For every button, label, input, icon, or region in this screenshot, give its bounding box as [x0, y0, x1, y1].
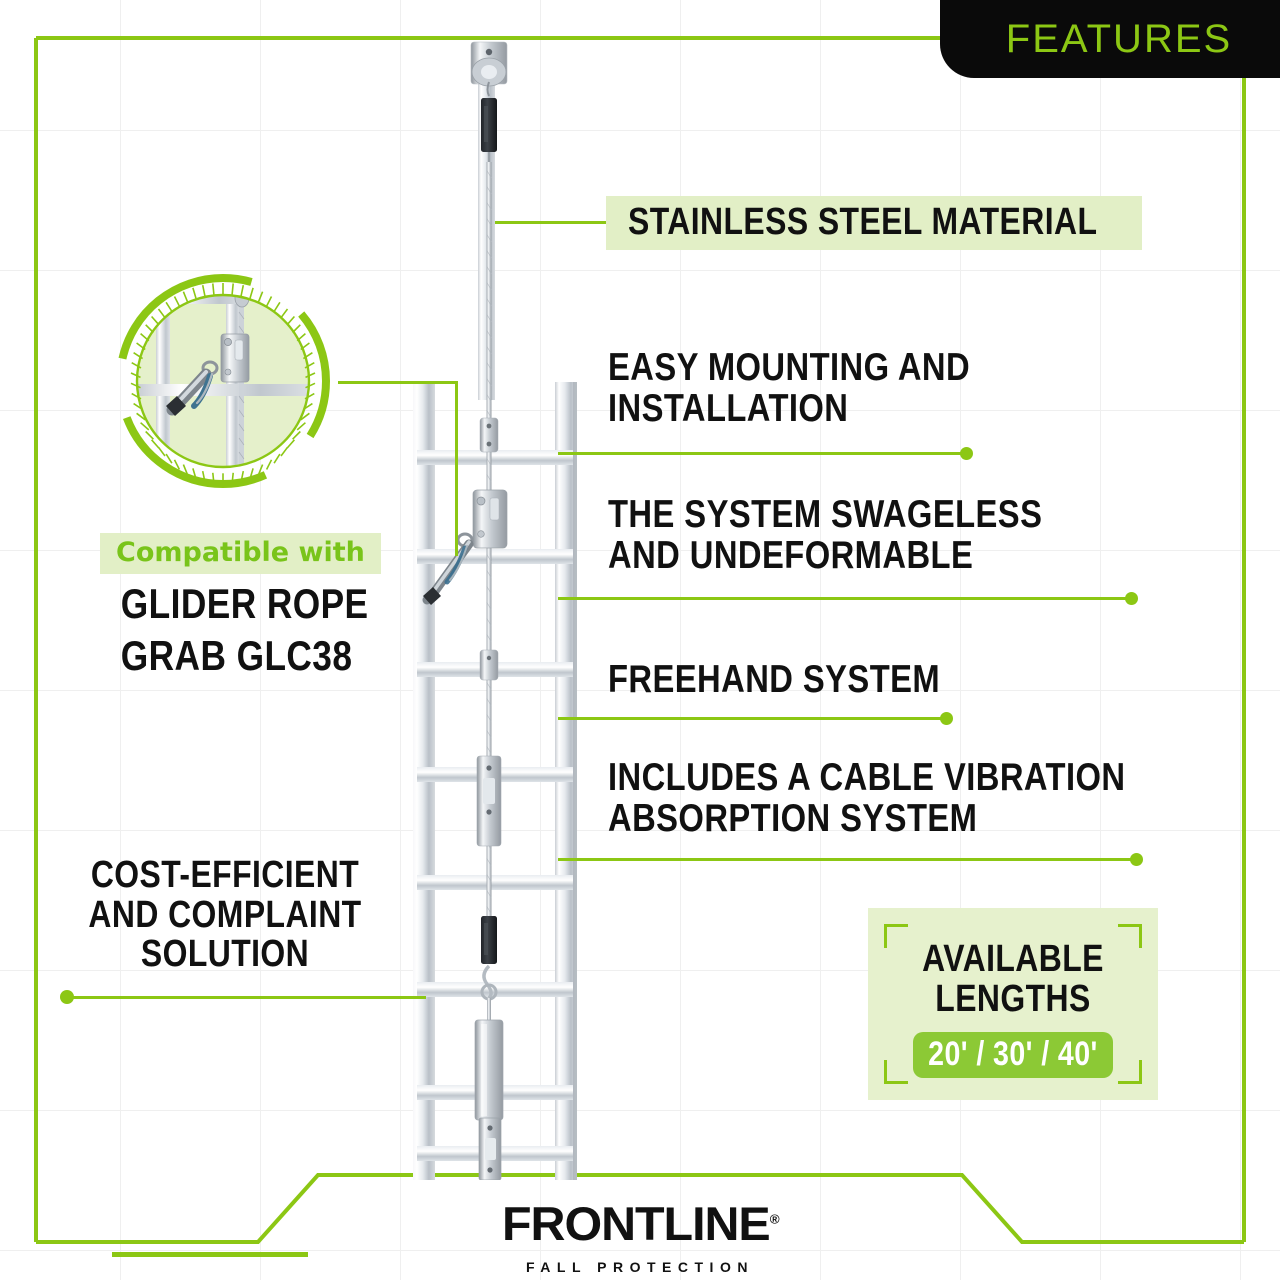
corner-bracket-bottom-right	[1118, 1060, 1142, 1084]
compatible-product-line2: GRAB GLC38	[121, 634, 339, 678]
feature-mounting-line2: INSTALLATION	[608, 389, 1045, 430]
feature-swageless-dot	[1125, 592, 1138, 605]
logo-tagline: FALL PROTECTION	[0, 1259, 1280, 1275]
lengths-values: 20' / 30' / 40'	[928, 1037, 1098, 1072]
lengths-title-line1: AVAILABLE	[891, 940, 1135, 980]
logo-wordmark-wrap: FRONTLINE®	[502, 1196, 779, 1251]
feature-vibration-underline	[558, 858, 1136, 861]
available-lengths-heading: AVAILABLE LENGTHS	[868, 908, 1158, 1019]
compatible-with-block: Compatible with GLIDER ROPE GRAB GLC38	[100, 533, 360, 677]
lengths-values-pill: 20' / 30' / 40'	[913, 1032, 1113, 1078]
ladder-safety-system-image	[395, 20, 595, 1180]
feature-swageless-line1: THE SYSTEM SWAGELESS	[608, 495, 1078, 536]
feature-mounting-dot	[960, 447, 973, 460]
features-tab: FEATURES	[940, 0, 1280, 78]
features-tab-label: FEATURES	[1006, 17, 1232, 62]
feature-freehand: FREEHAND SYSTEM	[608, 660, 1048, 701]
feature-freehand-line1: FREEHAND SYSTEM	[608, 660, 978, 701]
feature-vibration-absorption: INCLUDES A CABLE VIBRATION ABSORPTION SY…	[608, 758, 1208, 839]
feature-easy-mounting: EASY MOUNTING AND INSTALLATION	[608, 348, 1128, 429]
lengths-title-line2: LENGTHS	[891, 980, 1135, 1020]
detail-magnifier-inset	[78, 246, 368, 516]
cost-dot	[60, 990, 74, 1004]
feature-swageless-underline	[558, 597, 1131, 600]
feature-vibration-dot	[1130, 853, 1143, 866]
cost-line2: AND COMPLAINT	[86, 896, 363, 936]
feature-swageless: THE SYSTEM SWAGELESS AND UNDEFORMABLE	[608, 495, 1168, 576]
compatible-with-badge: Compatible with	[100, 533, 381, 574]
feature-stainless-steel-material: STAINLESS STEEL MATERIAL	[606, 196, 1142, 250]
feature-vibration-line1: INCLUDES A CABLE VIBRATION	[608, 758, 1112, 799]
feature-swageless-line2: AND UNDEFORMABLE	[608, 536, 1078, 577]
compatible-product-line1: GLIDER ROPE	[121, 582, 339, 626]
compatible-with-label: Compatible with	[116, 537, 365, 568]
corner-bracket-bottom-left	[884, 1060, 908, 1084]
cost-line1: COST-EFFICIENT	[86, 856, 363, 896]
feature-vibration-line2: ABSORPTION SYSTEM	[608, 799, 1112, 840]
cost-line3: SOLUTION	[86, 935, 363, 975]
feature-freehand-dot	[940, 712, 953, 725]
feature-freehand-underline	[558, 717, 946, 720]
frontline-logo: FRONTLINE® FALL PROTECTION	[0, 1196, 1280, 1275]
stainless-connector-line	[495, 221, 608, 224]
feature-mounting-line1: EASY MOUNTING AND	[608, 348, 1045, 389]
cost-underline	[68, 996, 426, 999]
logo-accent-bar	[112, 1252, 308, 1257]
feature-stainless-label: STAINLESS STEEL MATERIAL	[628, 203, 1097, 243]
available-lengths-card: AVAILABLE LENGTHS 20' / 30' / 40'	[868, 908, 1158, 1100]
feature-mounting-underline	[558, 452, 966, 455]
cost-efficient-block: COST-EFFICIENT AND COMPLAINT SOLUTION	[60, 856, 390, 975]
inset-connector-vertical	[455, 381, 458, 556]
registered-trademark-icon: ®	[769, 1211, 778, 1226]
logo-wordmark: FRONTLINE	[502, 1197, 770, 1250]
